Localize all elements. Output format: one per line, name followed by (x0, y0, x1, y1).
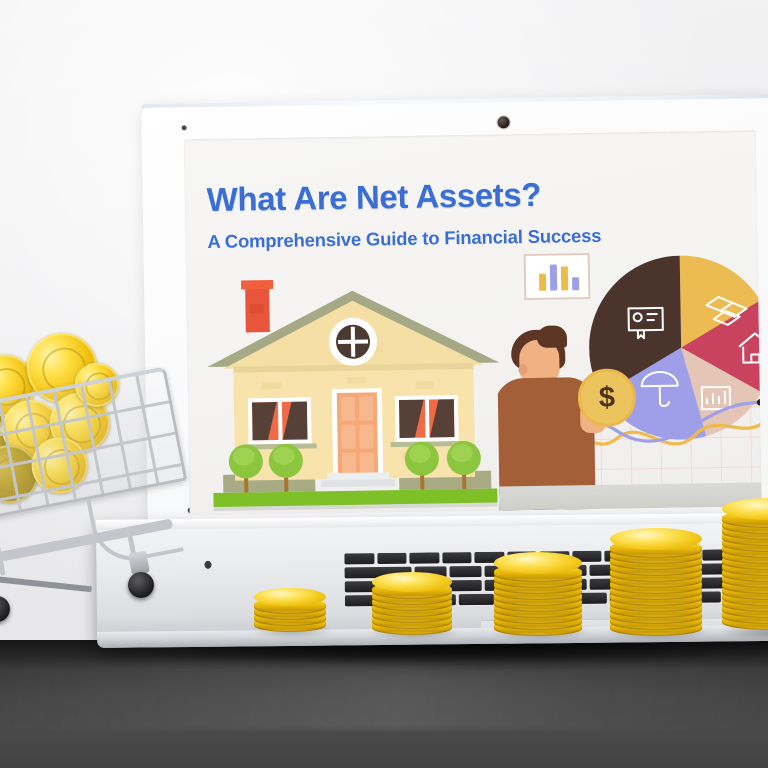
door-panel (341, 425, 355, 449)
house-illustration (200, 274, 504, 515)
front-door (337, 392, 378, 479)
door-panel (342, 453, 356, 475)
person-ear (518, 364, 527, 375)
laptop-lid: What Are Net Assets? A Comprehensive Gui… (141, 94, 768, 534)
tree (404, 433, 439, 490)
tree (446, 433, 481, 490)
basket-wire (0, 432, 175, 471)
key[interactable] (409, 552, 439, 563)
tree (228, 436, 263, 493)
laptop-screen[interactable]: What Are Net Assets? A Comprehensive Gui… (184, 130, 762, 515)
door-panel (359, 424, 373, 448)
slide-content: What Are Net Assets? A Comprehensive Gui… (184, 130, 762, 515)
window-drape (252, 402, 277, 440)
page-subtitle: A Comprehensive Guide to Financial Succe… (207, 225, 601, 253)
door-panel (341, 397, 355, 421)
window-mullion (424, 400, 429, 438)
attic-mullion-horizontal (338, 340, 368, 344)
coin-top (254, 588, 326, 606)
brick-detail (262, 382, 282, 389)
door-step-lower (321, 479, 395, 487)
brick-detail (416, 381, 434, 388)
window-drape (429, 399, 454, 437)
door-panel (359, 396, 373, 420)
tree-crown (405, 441, 440, 476)
attic-window-glass (336, 324, 371, 359)
brick-detail (348, 377, 366, 384)
tree-crown (229, 444, 264, 479)
door-panel (360, 452, 374, 474)
chimney-cap (241, 280, 273, 290)
key[interactable] (442, 552, 472, 563)
cart-wheel (128, 572, 154, 598)
dollar-coin-icon: $ (577, 368, 636, 427)
cart-base-bar (0, 574, 92, 593)
window-drape (399, 400, 424, 438)
cart-leg (0, 506, 6, 576)
coin-top (610, 528, 702, 550)
person-hair-tuft (537, 325, 567, 347)
page-title: What Are Net Assets? (206, 176, 541, 219)
tree (268, 436, 303, 493)
key[interactable] (459, 594, 494, 605)
status-indicator-icon (182, 125, 187, 130)
finance-infographic: $ (496, 248, 762, 510)
key[interactable] (450, 580, 482, 591)
coin-top (494, 552, 582, 574)
trend-endpoint (757, 399, 762, 405)
cart-wheel (0, 596, 10, 622)
tree-crown (447, 441, 482, 476)
webcam-icon (497, 116, 509, 128)
mini-shopping-cart (0, 330, 218, 630)
person-holding-coin: $ (496, 276, 644, 510)
key[interactable] (450, 566, 482, 577)
tree-crown (269, 444, 304, 479)
key[interactable] (344, 553, 374, 564)
coin-top (372, 572, 452, 592)
scene-root: What Are Net Assets? A Comprehensive Gui… (0, 0, 768, 768)
window-drape (282, 401, 307, 439)
window-mullion (277, 402, 282, 440)
key[interactable] (377, 553, 407, 564)
